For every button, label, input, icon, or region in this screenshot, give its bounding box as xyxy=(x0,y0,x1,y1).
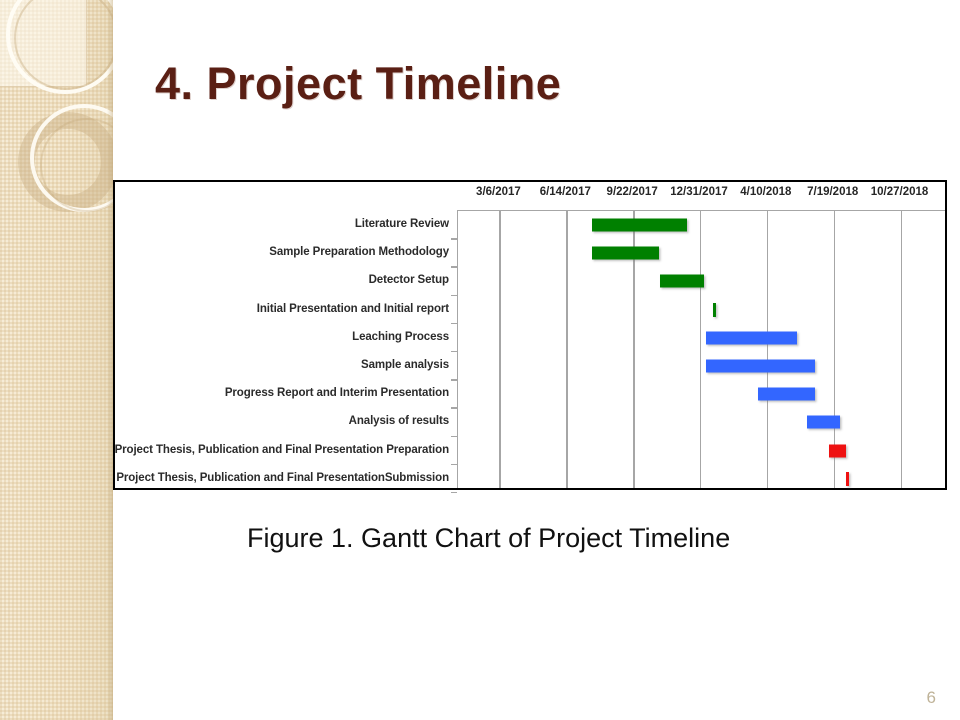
gridline xyxy=(767,211,769,488)
gantt-bar[interactable] xyxy=(592,219,687,232)
gantt-plot-wrapper: Literature ReviewSample Preparation Meth… xyxy=(115,210,945,488)
axis-tick-label: 6/14/2017 xyxy=(540,186,591,198)
gantt-bar[interactable] xyxy=(660,275,704,288)
gantt-task-label: Progress Report and Interim Presentation xyxy=(225,387,449,399)
gantt-task-label: Project Thesis, Publication and Final Pr… xyxy=(116,472,449,484)
gridline xyxy=(700,211,702,488)
category-axis-tick xyxy=(451,492,457,494)
gantt-axis-labels: 3/6/20176/14/20179/22/201712/31/20174/10… xyxy=(115,182,945,210)
gantt-chart: 3/6/20176/14/20179/22/201712/31/20174/10… xyxy=(113,180,947,490)
figure-caption: Figure 1. Gantt Chart of Project Timelin… xyxy=(247,523,730,554)
gridline xyxy=(499,211,501,488)
gantt-task-label: Sample analysis xyxy=(361,359,449,371)
gantt-task-label-column: Literature ReviewSample Preparation Meth… xyxy=(115,210,457,488)
axis-tick-label: 9/22/2017 xyxy=(607,186,658,198)
gantt-task-label: Initial Presentation and Initial report xyxy=(257,303,449,315)
gridline xyxy=(566,211,568,488)
gantt-task-label: Analysis of results xyxy=(349,415,449,427)
gantt-bar[interactable] xyxy=(807,416,840,429)
gantt-bar[interactable] xyxy=(829,444,846,457)
page-title: 4. Project Timeline xyxy=(155,58,561,110)
gridline xyxy=(901,211,903,488)
gantt-bar[interactable] xyxy=(706,331,797,344)
gantt-task-label: Detector Setup xyxy=(369,274,449,286)
gantt-task-label: Literature Review xyxy=(355,218,449,230)
gantt-task-label: Sample Preparation Methodology xyxy=(269,246,449,258)
axis-tick-label: 4/10/2018 xyxy=(740,186,791,198)
gantt-task-label: Project Thesis, Publication and Final Pr… xyxy=(115,444,449,456)
gantt-bar[interactable] xyxy=(758,388,815,401)
gantt-bar[interactable] xyxy=(706,360,815,373)
decorative-sidebar xyxy=(0,0,113,720)
gantt-task-label: Leaching Process xyxy=(352,331,449,343)
gantt-plot-area xyxy=(457,210,945,488)
axis-tick-label: 7/19/2018 xyxy=(807,186,858,198)
axis-tick-label: 12/31/2017 xyxy=(670,186,728,198)
gantt-bar[interactable] xyxy=(846,472,849,486)
gantt-bar[interactable] xyxy=(713,303,716,317)
axis-tick-label: 10/27/2018 xyxy=(871,186,929,198)
page-number: 6 xyxy=(927,688,936,708)
gantt-bar[interactable] xyxy=(592,247,659,260)
axis-tick-label: 3/6/2017 xyxy=(476,186,521,198)
